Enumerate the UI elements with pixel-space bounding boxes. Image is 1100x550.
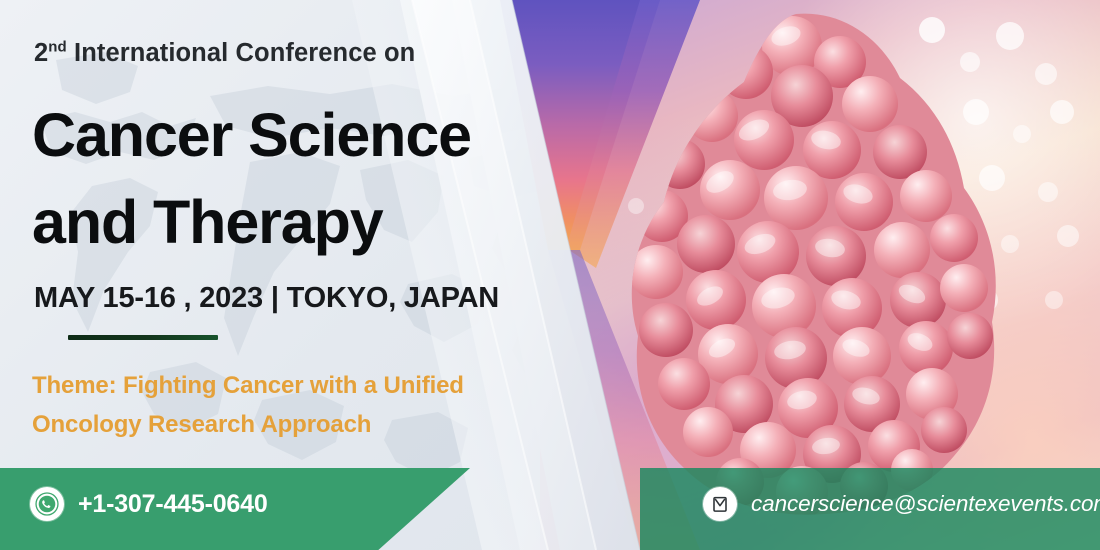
- conference-dateline: MAY 15-16 , 2023 | TOKYO, JAPAN: [34, 282, 499, 315]
- conference-theme: Theme: Fighting Cancer with a Unified On…: [32, 367, 502, 445]
- conference-edition-line: 2nd International Conference on: [34, 39, 415, 68]
- conference-copy-block: 2nd International Conference on Cancer S…: [32, 0, 592, 468]
- envelope-icon: [703, 487, 737, 521]
- edition-number: 2: [34, 39, 48, 67]
- email-contact[interactable]: cancerscience@scientexevents.com: [703, 487, 1100, 521]
- phone-contact[interactable]: +1-307-445-0640: [30, 487, 268, 521]
- email-address: cancerscience@scientexevents.com: [751, 491, 1100, 517]
- divider-rule: [68, 335, 218, 340]
- whatsapp-icon: [30, 487, 64, 521]
- conference-banner: 2nd International Conference on Cancer S…: [0, 0, 1100, 550]
- edition-ordinal-suffix: nd: [48, 39, 67, 56]
- edition-line-rest: International Conference on: [67, 39, 416, 67]
- conference-title: Cancer Science and Therapy: [32, 92, 471, 266]
- phone-number: +1-307-445-0640: [78, 490, 268, 519]
